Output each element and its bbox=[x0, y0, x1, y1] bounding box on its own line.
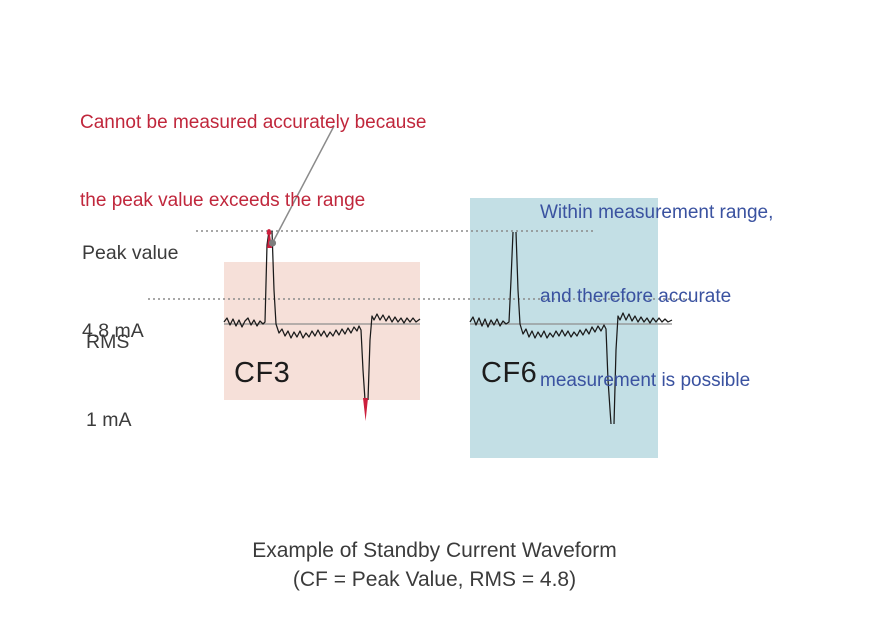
figure-caption-line1: Example of Standby Current Waveform bbox=[0, 536, 869, 565]
panel-label-cf3: CF3 bbox=[234, 357, 290, 390]
figure-canvas: Cannot be measured accurately because th… bbox=[0, 0, 869, 640]
annotation-in-range-line2: and therefore accurate bbox=[540, 283, 773, 311]
figure-caption-line2: (CF = Peak Value, RMS = 4.8) bbox=[0, 565, 869, 594]
cf3-clipped-peak-negative-fill bbox=[363, 398, 368, 421]
axis-label-rms-value: 1 mA bbox=[86, 407, 132, 433]
panel-label-cf6: CF6 bbox=[481, 357, 537, 390]
annotation-in-range-line3: measurement is possible bbox=[540, 367, 773, 395]
axis-label-rms-title: RMS bbox=[86, 329, 132, 355]
axis-label-peak-title: Peak value bbox=[82, 240, 178, 266]
annotation-in-range-line1: Within measurement range, bbox=[540, 199, 773, 227]
figure-caption: Example of Standby Current Waveform (CF … bbox=[0, 536, 869, 594]
axis-label-rms: RMS 1 mA bbox=[86, 277, 132, 485]
annotation-in-range: Within measurement range, and therefore … bbox=[540, 143, 773, 451]
annotation-out-of-range-line1: Cannot be measured accurately because bbox=[80, 110, 426, 136]
